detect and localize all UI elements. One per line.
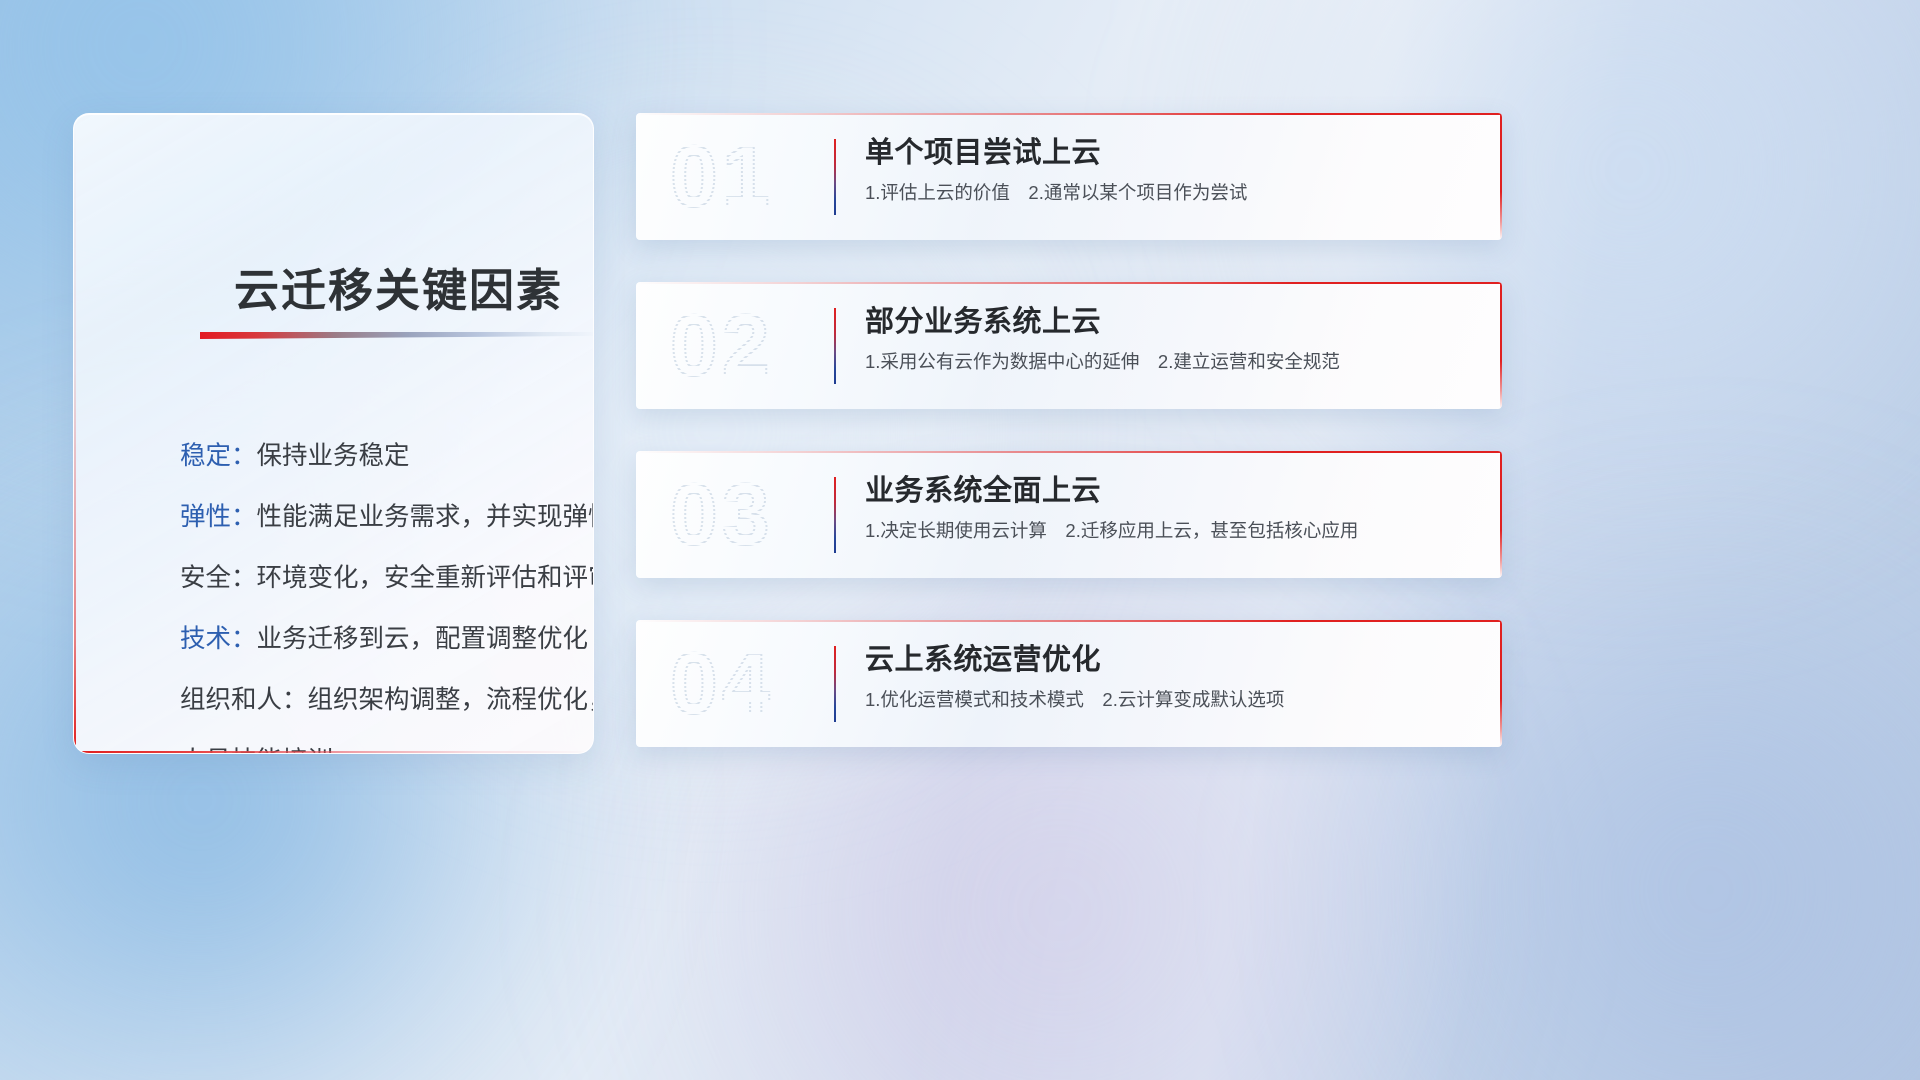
key-factor-label: 技术： <box>180 625 257 653</box>
stage-card-body: 部分业务系统上云1.采用公有云作为数据中心的延伸 2.建立运营和安全规范 <box>865 300 1478 380</box>
key-factor-row: 组织和人：组织架构调整，流程优化， <box>180 670 594 731</box>
stage-description: 1.采用公有云作为数据中心的延伸 2.建立运营和安全规范 <box>865 344 1478 380</box>
migration-stage-card[interactable]: 03业务系统全面上云1.决定长期使用云计算 2.迁移应用上云，甚至包括核心应用 <box>636 451 1502 578</box>
key-factor-label: 弹性： <box>180 503 257 531</box>
key-factors-list: 稳定：保持业务稳定弹性：性能满足业务需求，并实现弹性安全：环境变化，安全重新评估… <box>180 426 594 754</box>
key-factor-text: 人员技能培训 <box>180 747 333 754</box>
key-factor-label: 组织和人： <box>180 686 308 714</box>
stage-title: 部分业务系统上云 <box>865 300 1478 344</box>
stage-card-body: 业务系统全面上云1.决定长期使用云计算 2.迁移应用上云，甚至包括核心应用 <box>865 469 1478 549</box>
key-factor-text: 保持业务稳定 <box>257 442 410 470</box>
key-factor-text: 组织架构调整，流程优化， <box>308 686 594 714</box>
key-factor-row: 技术：业务迁移到云，配置调整优化 <box>180 609 594 670</box>
stage-title: 业务系统全面上云 <box>865 469 1478 513</box>
key-factor-label: 稳定： <box>180 442 257 470</box>
title-underline-accent <box>200 332 594 339</box>
stage-divider-line <box>834 646 836 722</box>
key-factor-row: 稳定：保持业务稳定 <box>180 426 594 487</box>
stage-description: 1.评估上云的价值 2.通常以某个项目作为尝试 <box>865 175 1478 211</box>
stage-divider-line <box>834 308 836 384</box>
migration-stage-card-list: 01单个项目尝试上云1.评估上云的价值 2.通常以某个项目作为尝试02部分业务系… <box>636 113 1502 789</box>
key-factor-row: 弹性：性能满足业务需求，并实现弹性 <box>180 487 594 548</box>
key-factor-row: 安全：环境变化，安全重新评估和评审 <box>180 548 594 609</box>
key-factor-text: 性能满足业务需求，并实现弹性 <box>257 503 594 531</box>
key-factor-text: 业务迁移到云，配置调整优化 <box>257 625 589 653</box>
stage-card-body: 单个项目尝试上云1.评估上云的价值 2.通常以某个项目作为尝试 <box>865 131 1478 211</box>
key-factor-row: 人员技能培训 <box>180 731 594 754</box>
stage-description: 1.决定长期使用云计算 2.迁移应用上云，甚至包括核心应用 <box>865 513 1478 549</box>
stage-number: 02 <box>670 296 838 396</box>
stage-divider-line <box>834 139 836 215</box>
stage-divider-line <box>834 477 836 553</box>
key-factors-panel: 云迁移关键因素 稳定：保持业务稳定弹性：性能满足业务需求，并实现弹性安全：环境变… <box>73 113 594 754</box>
stage-title: 云上系统运营优化 <box>865 638 1478 682</box>
stage-card-body: 云上系统运营优化1.优化运营模式和技术模式 2.云计算变成默认选项 <box>865 638 1478 718</box>
key-factor-text: 环境变化，安全重新评估和评审 <box>257 564 594 592</box>
page-title: 云迁移关键因素 <box>234 254 563 319</box>
stage-number: 03 <box>670 465 838 565</box>
migration-stage-card[interactable]: 04云上系统运营优化1.优化运营模式和技术模式 2.云计算变成默认选项 <box>636 620 1502 747</box>
stage-number: 01 <box>670 127 838 227</box>
stage-number: 04 <box>670 634 838 734</box>
migration-stage-card[interactable]: 02部分业务系统上云1.采用公有云作为数据中心的延伸 2.建立运营和安全规范 <box>636 282 1502 409</box>
stage-title: 单个项目尝试上云 <box>865 131 1478 175</box>
key-factor-label: 安全： <box>180 564 257 592</box>
stage-description: 1.优化运营模式和技术模式 2.云计算变成默认选项 <box>865 682 1478 718</box>
migration-stage-card[interactable]: 01单个项目尝试上云1.评估上云的价值 2.通常以某个项目作为尝试 <box>636 113 1502 240</box>
